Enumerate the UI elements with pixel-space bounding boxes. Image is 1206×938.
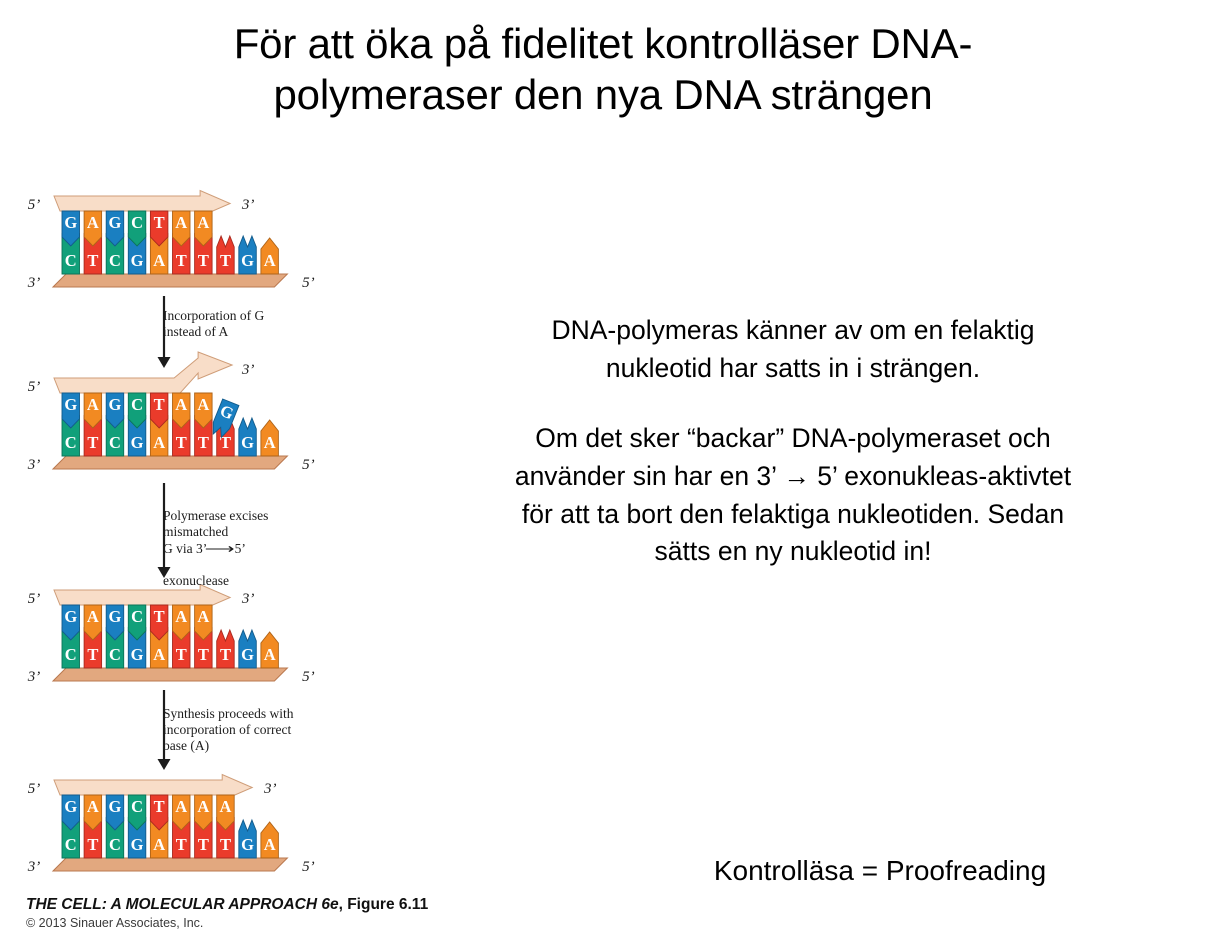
dna-base-letter: G [131, 645, 144, 664]
end-label-5prime-top: 5’ [28, 197, 41, 213]
dna-base-letter: G [109, 607, 122, 626]
panel-initial: CTCGATTTGAGAGCTAA5’3’3’5’ [27, 191, 315, 292]
dna-base-letter: G [241, 251, 254, 270]
dna-base-letter: A [153, 835, 165, 854]
dna-base-letter: T [154, 213, 165, 232]
end-label-5prime-bottom: 5’ [302, 457, 315, 473]
dna-base-letter: A [87, 797, 99, 816]
page-title-line-1: För att öka på fidelitet kontrolläser DN… [60, 18, 1146, 69]
end-label-3prime-bottom: 3’ [27, 457, 41, 473]
end-label-5prime-top: 5’ [28, 379, 41, 395]
dna-base-letter: C [109, 433, 121, 452]
dna-base-letter: T [198, 835, 209, 854]
dna-base-letter: C [131, 797, 143, 816]
dna-base-letter: G [241, 433, 254, 452]
dna-base-letter: C [131, 607, 143, 626]
connector-arrowhead [158, 759, 171, 770]
exo-suffix: 5’ [235, 541, 246, 556]
dna-base-letter: A [153, 251, 165, 270]
dna-base-letter: A [87, 607, 99, 626]
dna-base-letter: A [153, 433, 165, 452]
dna-base-letter: A [175, 395, 187, 414]
dna-base-letter: A [87, 213, 99, 232]
end-label-3prime-bottom: 3’ [27, 275, 41, 291]
body-paragraph-1: DNA-polymeras känner av om en felaktig n… [452, 312, 1134, 387]
dna-base-letter: C [131, 213, 143, 232]
dna-base-letter: A [197, 607, 209, 626]
dna-template-backbone [53, 456, 287, 469]
dna-base-letter: A [264, 835, 276, 854]
dna-base-letter: T [154, 395, 165, 414]
dna-base-letter: T [220, 835, 231, 854]
step-label-synthesis: Synthesis proceeds with incorporation of… [163, 706, 294, 755]
exo-prefix: G via 3’ [163, 541, 207, 556]
proofreading-note: Kontrolläsa = Proofreading [600, 855, 1160, 887]
dna-base-letter: C [109, 645, 121, 664]
dna-base-letter: T [198, 251, 209, 270]
page-title-line-2: polymeraser den nya DNA strängen [60, 69, 1146, 120]
dna-base-letter: T [176, 835, 187, 854]
end-label-5prime-bottom: 5’ [302, 859, 315, 875]
dna-base-letter: T [176, 433, 187, 452]
end-label-3prime-bottom: 3’ [27, 669, 41, 685]
dna-base-letter: G [131, 251, 144, 270]
figure-credit: THE CELL: A MOLECULAR APPROACH 6e, Figur… [26, 896, 456, 930]
end-label-3prime-top: 3’ [241, 197, 255, 213]
figure-credit-book: THE CELL: A MOLECULAR APPROACH 6e [26, 896, 339, 913]
dna-base-letter: T [176, 251, 187, 270]
step-label-excision: Polymerase excises mismatched G via 3’⟶5… [163, 492, 268, 605]
dna-template-backbone [53, 668, 287, 681]
dna-base-letter: C [65, 251, 77, 270]
connector-arrowhead [158, 357, 171, 368]
end-label-5prime-top: 5’ [28, 781, 41, 797]
right-arrow-icon: ⟶ [205, 541, 235, 557]
dna-base-letter: A [197, 395, 209, 414]
step-label-incorporation: Incorporation of G instead of A [163, 308, 264, 340]
body-paragraph-2: Om det sker “backar” DNA-polymeraset och… [452, 420, 1134, 571]
dna-base-letter: T [198, 433, 209, 452]
dna-base-letter: T [154, 797, 165, 816]
body-p2-line-1: Om det sker “backar” DNA-polymeraset och [452, 420, 1134, 458]
dna-template-backbone [53, 858, 287, 871]
dna-base-letter: A [175, 213, 187, 232]
dna-base-letter: T [87, 835, 98, 854]
dna-base-letter: T [220, 645, 231, 664]
body-p2-line-3: för att ta bort den felaktiga nukleotide… [452, 496, 1134, 534]
dna-base-letter: A [264, 645, 276, 664]
dna-base-letter: G [241, 645, 254, 664]
body-p1-line-1: DNA-polymeras känner av om en felaktig [452, 312, 1134, 350]
dna-base-letter: A [153, 645, 165, 664]
dna-new-strand-backbone [54, 352, 232, 393]
dna-base-letter: C [131, 395, 143, 414]
dna-base-letter: A [87, 395, 99, 414]
dna-base-letter: A [264, 433, 276, 452]
dna-base-letter: C [65, 433, 77, 452]
dna-base-letter: T [87, 251, 98, 270]
dna-base-letter: T [198, 645, 209, 664]
end-label-3prime-bottom: 3’ [27, 859, 41, 875]
panel-mismatch: CTCGATTTGAGAGCTAAG5’3’3’5’ [27, 352, 315, 473]
dna-base-letter: A [197, 797, 209, 816]
end-label-5prime-top: 5’ [28, 591, 41, 607]
body-text: DNA-polymeras känner av om en felaktig n… [452, 312, 1134, 571]
end-label-5prime-bottom: 5’ [302, 669, 315, 685]
dna-base-letter: G [109, 395, 122, 414]
dna-base-letter: A [175, 797, 187, 816]
exo-last: exonuclease [163, 573, 268, 589]
dna-base-letter: A [219, 797, 231, 816]
dna-base-letter: A [264, 251, 276, 270]
figure-credit-figure: , Figure 6.11 [339, 896, 429, 913]
panel-corrected: CTCGATTTGAGAGCTAAA5’3’3’5’ [27, 775, 315, 876]
dna-base-letter: G [64, 213, 77, 232]
end-label-5prime-bottom: 5’ [302, 275, 315, 291]
dna-base-letter: G [241, 835, 254, 854]
dna-base-letter: T [87, 645, 98, 664]
dna-base-letter: G [109, 797, 122, 816]
dna-base-letter: C [65, 645, 77, 664]
dna-base-letter: G [64, 797, 77, 816]
body-p1-line-2: nukleotid har satts in i strängen. [452, 350, 1134, 388]
step-label-excision-text: Polymerase excises mismatched [163, 508, 268, 539]
dna-base-letter: T [220, 251, 231, 270]
dna-base-letter: T [176, 645, 187, 664]
dna-base-letter: G [64, 395, 77, 414]
dna-base-letter: C [109, 251, 121, 270]
dna-base-letter: G [109, 213, 122, 232]
dna-base-letter: A [175, 607, 187, 626]
figure-credit-main: THE CELL: A MOLECULAR APPROACH 6e, Figur… [26, 896, 456, 914]
dna-base-letter: C [65, 835, 77, 854]
body-p2-line-2: använder sin har en 3’ → 5’ exonukleas-a… [452, 458, 1134, 496]
page-title: För att öka på fidelitet kontrolläser DN… [60, 18, 1146, 120]
figure-credit-copyright: © 2013 Sinauer Associates, Inc. [26, 916, 456, 930]
dna-base-letter: T [87, 433, 98, 452]
dna-base-letter: G [64, 607, 77, 626]
dna-base-letter: G [131, 835, 144, 854]
step-label-excision-exo-line: G via 3’⟶5’ [163, 541, 268, 557]
end-label-3prime-top: 3’ [263, 781, 277, 797]
dna-base-letter: T [154, 607, 165, 626]
body-p2-line-4: sätts en ny nukleotid in! [452, 533, 1134, 571]
dna-base-letter: A [197, 213, 209, 232]
end-label-3prime-top: 3’ [241, 362, 255, 378]
dna-base-letter: C [109, 835, 121, 854]
dna-base-letter: G [131, 433, 144, 452]
dna-template-backbone [53, 274, 287, 287]
